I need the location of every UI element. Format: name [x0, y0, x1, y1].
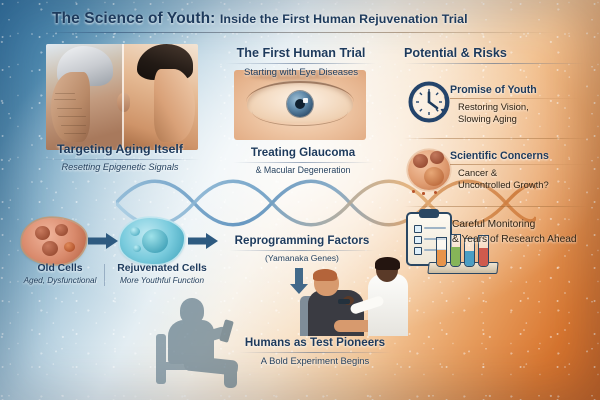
- divider: [450, 164, 590, 165]
- eye-caption-heading: Treating Glaucoma: [224, 146, 382, 159]
- right-column-heading: Potential & Risks: [404, 46, 594, 60]
- title-main: The Science of Youth:: [52, 10, 215, 27]
- face-split-divider: [122, 44, 124, 150]
- patient-hair: [313, 269, 337, 281]
- old-profile: [51, 72, 91, 142]
- tumor-speck: [434, 191, 437, 194]
- poster-title: The Science of Youth: Inside the First H…: [52, 10, 552, 28]
- old-cell-nucleus: [35, 226, 50, 240]
- rejuvenated-cells-caption: More Youthful Function: [104, 276, 220, 285]
- rejuvenated-cell-illustration: [120, 218, 184, 264]
- clipboard-clip: [419, 209, 439, 218]
- new-cell-vacuole: [133, 245, 141, 252]
- upper-lash-line: [246, 81, 354, 107]
- wrinkle: [57, 108, 83, 109]
- eye-treatment-caption: Treating Glaucoma & Macular Degeneration: [224, 146, 382, 175]
- arrow-old-to-new-icon: [88, 233, 118, 249]
- infographic-poster: The Science of Youth: Inside the First H…: [0, 0, 600, 400]
- center-column-subheading: Starting with Eye Diseases: [216, 67, 386, 78]
- wrinkle: [64, 133, 85, 134]
- promise-line-2: Slowing Aging: [458, 113, 580, 125]
- checklist-line: [424, 227, 446, 229]
- divider: [226, 63, 376, 64]
- promise-line-1: Restoring Vision,: [458, 101, 580, 113]
- promise-heading: Promise of Youth: [450, 84, 580, 96]
- monitoring-line-2: & Years of Research Ahead: [452, 233, 598, 248]
- checkbox-icon: [414, 236, 422, 244]
- cell-transformation-illustration: [22, 216, 212, 268]
- divider: [229, 250, 375, 251]
- split-face-image: [46, 44, 198, 150]
- right-column-separator: [404, 206, 588, 207]
- title-subtitle: Inside the First Human Rejuvenation Tria…: [220, 12, 468, 26]
- reprogramming-heading: Reprogramming Factors: [222, 234, 382, 247]
- wrinkle: [58, 116, 85, 117]
- test-tube-orange: [436, 237, 447, 267]
- tumor-speck: [422, 192, 425, 195]
- right-block-concerns: Scientific Concerns Cancer & Uncontrolle…: [450, 150, 590, 191]
- young-profile: [154, 69, 195, 141]
- monitoring-line-1: Careful Monitoring: [452, 218, 598, 233]
- checkbox-icon: [414, 247, 422, 255]
- divider: [40, 159, 200, 160]
- eye-scope-instrument: [338, 299, 350, 304]
- pioneers-heading: Humans as Test Pioneers: [230, 336, 400, 349]
- left-column-heading: Targeting Aging Itself: [30, 142, 210, 156]
- rejuvenated-cells-heading: Rejuvenated Cells: [104, 263, 220, 274]
- right-column-separator: [404, 138, 588, 139]
- old-cell-nucleus: [64, 242, 75, 252]
- clock-icon: [406, 78, 454, 126]
- silhouette-shin: [224, 366, 237, 388]
- old-cell-nucleus: [55, 224, 68, 236]
- young-face-half: [122, 44, 198, 150]
- new-cell-nucleus: [142, 229, 168, 253]
- tumor-nucleus: [430, 151, 444, 164]
- concerns-line-2: Uncontrolled Growth?: [458, 179, 590, 191]
- divider: [239, 352, 391, 353]
- center-column-heading: The First Human Trial: [216, 46, 386, 60]
- old-cell-illustration: [22, 218, 86, 264]
- eye-caption-subheading: & Macular Degeneration: [224, 165, 382, 175]
- arrow-down-icon: [290, 268, 308, 294]
- pioneers-caption: Humans as Test Pioneers A Bold Experimen…: [230, 336, 400, 366]
- right-block-monitoring: Careful Monitoring & Years of Research A…: [452, 216, 598, 248]
- old-cell-nucleus: [42, 241, 58, 256]
- old-face-half: [46, 44, 122, 150]
- wrinkle: [55, 93, 75, 94]
- checklist-row: [414, 225, 444, 231]
- new-cell-vacuole: [130, 227, 140, 236]
- old-cells-caption: Aged, Dysfunctional: [18, 276, 102, 285]
- reprogramming-caption: Reprogramming Factors (Yamanaka Genes): [222, 234, 382, 263]
- title-divider: [44, 32, 556, 33]
- tumor-nucleus: [413, 154, 428, 168]
- concerns-heading: Scientific Concerns: [450, 150, 590, 162]
- tumor-nucleus: [424, 167, 444, 186]
- tumor-speck: [412, 190, 415, 193]
- lower-lash-line: [252, 109, 347, 125]
- clinic-examination-illustration: [300, 256, 412, 336]
- right-column-header: Potential & Risks: [404, 46, 594, 67]
- chair-back: [156, 334, 166, 384]
- checkbox-icon: [414, 225, 422, 233]
- wrinkle: [54, 99, 77, 100]
- wrinkle: [61, 125, 85, 126]
- old-cells-heading: Old Cells: [18, 263, 102, 274]
- reprogramming-subheading: (Yamanaka Genes): [222, 253, 382, 263]
- concerns-line-1: Cancer &: [458, 167, 590, 179]
- arrow-to-reprogramming-icon: [188, 233, 218, 249]
- right-block-promise: Promise of Youth Restoring Vision, Slowi…: [450, 84, 580, 125]
- center-column-header: The First Human Trial Starting with Eye …: [216, 46, 386, 78]
- human-eye-image: [234, 70, 366, 140]
- old-cells-label: Old Cells Aged, Dysfunctional: [18, 263, 102, 285]
- rejuvenated-cells-label: Rejuvenated Cells More Youthful Function: [104, 263, 220, 285]
- divider: [404, 63, 584, 64]
- pioneers-subheading: A Bold Experiment Begins: [230, 355, 400, 366]
- old-cell-membrane: [22, 218, 86, 264]
- left-column-subheading: Resetting Epigenetic Signals: [30, 162, 210, 172]
- left-column-caption: Targeting Aging Itself Resetting Epigene…: [30, 142, 210, 172]
- divider: [450, 98, 580, 99]
- divider: [233, 162, 373, 163]
